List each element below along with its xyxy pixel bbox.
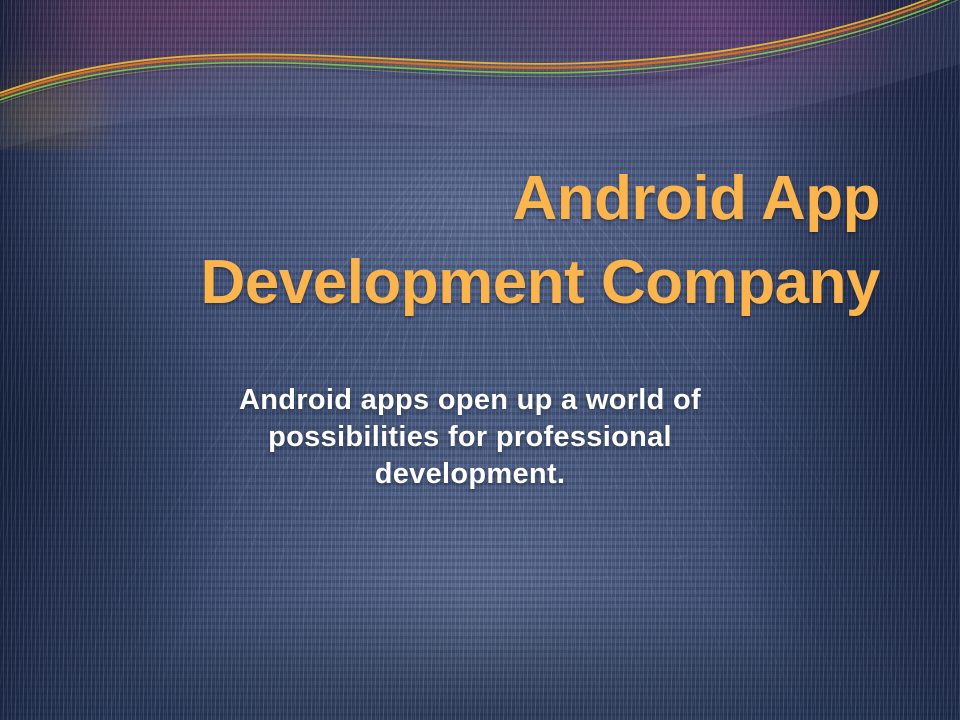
subtitle-line-1: Android apps open up a world of xyxy=(132,382,808,419)
background-ribbon-curves xyxy=(0,0,960,720)
background-purple-haze xyxy=(0,0,960,190)
title-slide: Android App Development Company Android … xyxy=(0,0,960,720)
background-thread-texture xyxy=(0,0,960,720)
background-fan-lines xyxy=(0,0,960,720)
background-right-wedge xyxy=(0,0,960,720)
background-base-gradient xyxy=(0,0,960,720)
subtitle-line-3: development. xyxy=(132,456,808,493)
background-thread-texture-diagonal xyxy=(0,0,960,720)
background-ripple-arcs xyxy=(0,0,960,720)
background-vignette xyxy=(0,0,960,720)
slide-title: Android App Development Company xyxy=(0,168,880,314)
title-line-1: Android App xyxy=(0,168,880,230)
subtitle-line-2: possibilities for professional xyxy=(132,419,808,456)
background-amber-glow xyxy=(0,0,960,150)
slide-subtitle: Android apps open up a world of possibil… xyxy=(132,382,808,493)
background-left-wedge xyxy=(0,0,960,720)
title-line-2: Development Company xyxy=(0,252,880,314)
